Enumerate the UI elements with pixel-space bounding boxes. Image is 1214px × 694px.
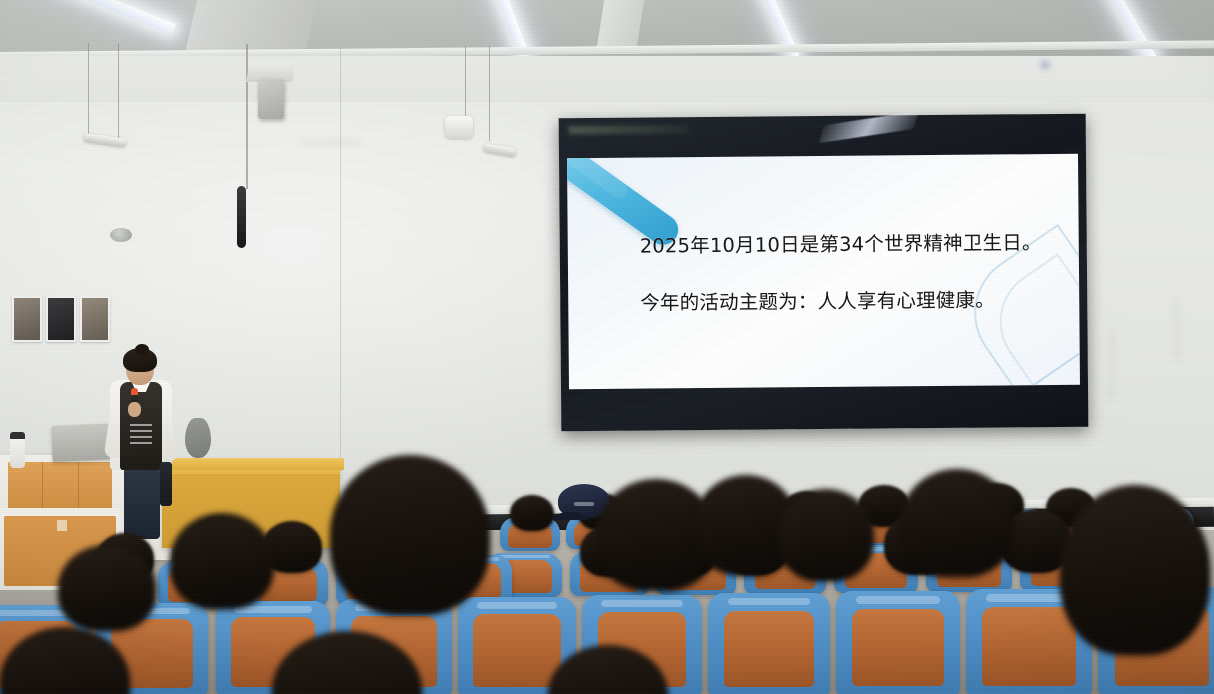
wall-vent (110, 228, 132, 242)
slide-surface: 2025年10月10日是第34个世界精神卫生日。 今年的活动主题为：人人享有心理… (567, 154, 1080, 389)
wall-upper-band (0, 56, 1214, 102)
presenter-hand (128, 402, 141, 417)
suspension-cable (88, 43, 89, 139)
slide-line-2: 今年的活动主题为：人人享有心理健康。 (640, 289, 1051, 315)
lecture-hall-photo: 2025年10月10日是第34个世界精神卫生日。 今年的活动主题为：人人享有心理… (0, 0, 1214, 694)
ceiling-speaker (258, 79, 284, 119)
wall-poster (80, 296, 110, 342)
audience-head (170, 513, 274, 609)
audience-seating (0, 455, 1214, 694)
wall-mark (300, 140, 360, 144)
wifi-access-point (445, 116, 473, 138)
auditorium-seat (836, 591, 960, 694)
audience-head-foreground (330, 455, 490, 615)
slide-line-1: 2025年10月10日是第34个世界精神卫生日。 (640, 232, 1051, 258)
audience-head (58, 545, 156, 631)
suspension-cable (340, 48, 341, 468)
audience-head-foreground (1060, 485, 1210, 655)
suspension-cable (489, 46, 490, 141)
presenter-hair-bun (135, 344, 149, 355)
slide-body: 2025年10月10日是第34个世界精神卫生日。 今年的活动主题为：人人享有心理… (640, 232, 1052, 315)
suspension-cable (246, 44, 248, 189)
wall-posters (12, 296, 110, 342)
audience-head (900, 469, 1014, 577)
audience-head (778, 489, 874, 581)
light-reflection (569, 125, 689, 134)
wall-mark (1040, 60, 1050, 70)
suspension-cable (465, 46, 466, 116)
suspension-cable (118, 43, 119, 145)
audience-head (510, 495, 554, 531)
wall-poster (46, 296, 76, 342)
presentation-display[interactable]: 2025年10月10日是第34个世界精神卫生日。 今年的活动主题为：人人享有心理… (559, 114, 1089, 432)
wall-mark (1175, 300, 1179, 360)
auditorium-seat (708, 593, 830, 694)
wall-poster (12, 296, 42, 342)
presenter-vest-print (130, 420, 152, 444)
hanging-cable-weight (237, 186, 246, 248)
wall-mark (1110, 330, 1114, 400)
wall-hanging-object (185, 418, 211, 458)
